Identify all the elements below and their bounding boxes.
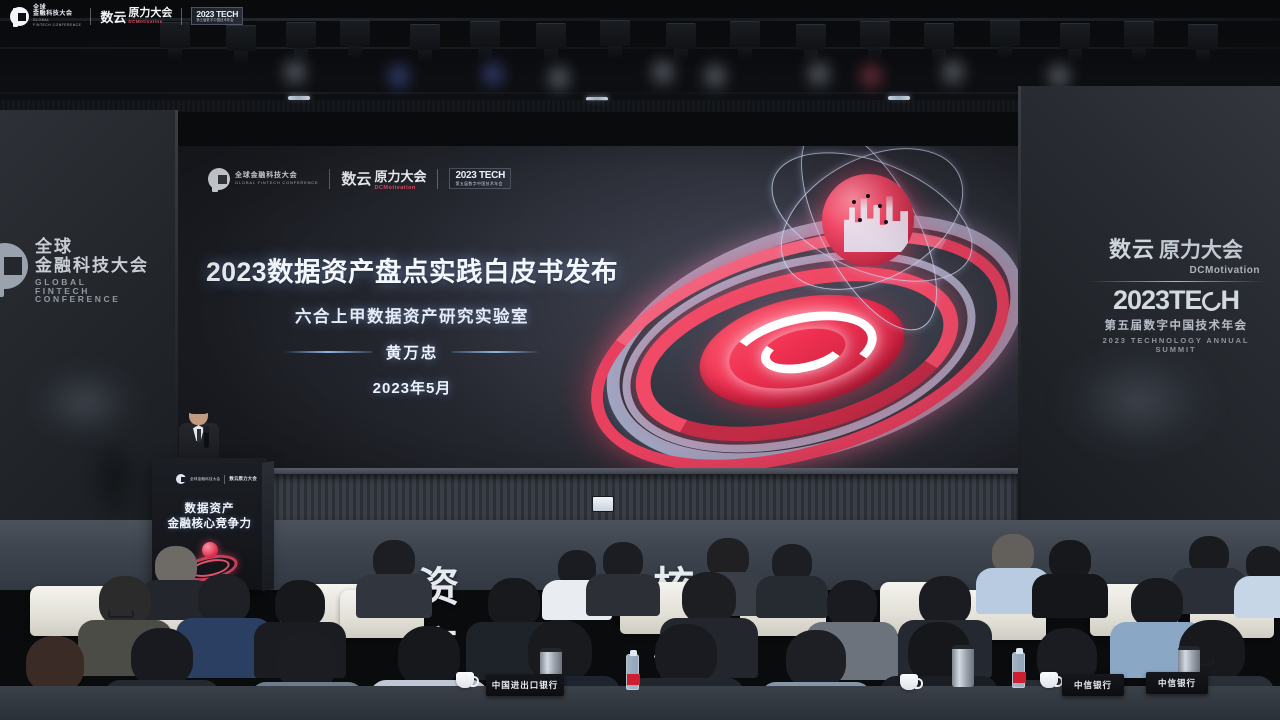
lamp-glow: [806, 54, 832, 94]
stage-light-fixture: [600, 20, 630, 46]
stage-light-fixture: [860, 21, 890, 47]
wall-nebula-graphic: [20, 355, 150, 450]
overlay-dcm-cn: 数云: [100, 7, 126, 26]
wall-right-summit-en: 2023 TECHNOLOGY ANNUAL SUMMIT: [1088, 336, 1264, 354]
audience-person: [1032, 540, 1108, 614]
audience-person: [1234, 546, 1280, 616]
table-nameplate: 中信银行: [1146, 672, 1208, 694]
lamp-glow: [282, 52, 308, 92]
person-head: [198, 574, 250, 624]
nameplate-label: 中国进出口银行: [492, 679, 559, 691]
thermos-flask: [952, 645, 974, 687]
overlay-dcm-cn2: 原力大会: [128, 8, 172, 19]
stage-light-fixture: [990, 20, 1020, 46]
stage-light-fixture: [924, 23, 954, 49]
lamp-glow: [702, 56, 728, 96]
person-head: [26, 636, 84, 692]
audience-person: [586, 542, 660, 614]
stage-light-fixture: [286, 22, 316, 48]
stage-light-fixture: [666, 23, 696, 49]
overlay-logo-dcm: 数云 原力大会 DCMotivation: [100, 7, 172, 26]
screen-vignette: [178, 146, 1018, 474]
teacup: [456, 672, 474, 688]
overlay-dcm-en: DCMotivation: [128, 20, 172, 25]
person-body: [356, 574, 432, 618]
overlay-logo-tech: 2023 TECH 第五届数字中国技术年会: [191, 7, 243, 25]
wall-right-tech-word2: H: [1221, 285, 1240, 315]
person-head: [655, 624, 717, 684]
speaker-wall-shadow: [88, 448, 140, 522]
speaker-tie: [197, 429, 201, 442]
stage-light-fixture: [730, 21, 760, 47]
overlay-divider: [181, 8, 182, 25]
person-head: [131, 628, 193, 686]
speaker-presenter: [178, 403, 220, 465]
wall-nebula-graphic: [1048, 336, 1228, 466]
lamp-glow: [546, 58, 572, 98]
table-nameplate: 中国进出口银行: [486, 674, 564, 696]
wall-brand-global-fintech: 全球 金融科技大会 GLOBAL FINTECH CONFERENCE: [0, 228, 170, 314]
stage-light-fixture: [1188, 24, 1218, 50]
audience-person: [356, 540, 432, 614]
wall-brand-dcmotivation: 数云 原力大会 DCMotivation 2023TEH 第五届数字中国技术年会…: [1088, 232, 1264, 354]
wall-right-dcm-en: DCMotivation: [1088, 265, 1264, 276]
stage-light-fixture: [536, 23, 566, 49]
wall-right-divider: [1088, 281, 1264, 282]
stage-scene: 全球 金融科技大会 GLOBAL FINTECH CONFERENCE 数云 原…: [0, 0, 1280, 720]
person-body: [1032, 574, 1108, 618]
overlay-divider: [90, 8, 91, 25]
person-head: [919, 576, 971, 626]
wall-right-tech-year: 2023: [1113, 285, 1169, 315]
person-head: [827, 580, 877, 628]
fintech-logo-icon: [10, 7, 29, 26]
stage-confidence-monitor: [592, 496, 614, 512]
podium-logo-cn: 全球金融科技大会: [190, 477, 220, 481]
lamp-glow: [650, 52, 676, 92]
wall-right-summit-cn: 第五届数字中国技术年会: [1088, 317, 1264, 333]
microphone-icon: [204, 431, 209, 448]
wall-right-yuanli: 原力大会: [1159, 234, 1243, 264]
teacup: [900, 674, 918, 690]
stage-light-fixture: [1060, 23, 1090, 49]
lamp-glow: [940, 52, 966, 92]
person-head: [398, 626, 460, 686]
person-head: [99, 576, 151, 626]
fintech-logo-icon: [176, 474, 186, 484]
main-led-screen: 全球金融科技大会 GLOBAL FINTECH CONFERENCE 数云 原力…: [178, 146, 1018, 474]
podium-logo-strip: 全球金融科技大会 数云原力大会: [176, 474, 257, 484]
eyeglasses-icon: [694, 606, 720, 614]
lamp-glow: [858, 56, 884, 96]
nameplate-label: 中信银行: [1158, 677, 1196, 689]
stage-light-fixture: [470, 21, 500, 47]
person-head: [786, 630, 846, 688]
overlay-fintech-cn2: 金融科技大会: [33, 11, 81, 18]
person-body: [586, 574, 660, 616]
stage-light-fixture: [1124, 21, 1154, 47]
wall-right-tech-word: TE: [1169, 285, 1202, 315]
wall-left-en2: FINTECH CONFERENCE: [35, 287, 170, 304]
speaker-hair: [187, 401, 210, 414]
broadcast-overlay-logos: 全球 金融科技大会 GLOBAL FINTECH CONFERENCE 数云 原…: [0, 0, 260, 32]
overlay-fintech-en2: FINTECH CONFERENCE: [33, 24, 81, 28]
overlay-tech-line2: 第五届数字中国技术年会: [196, 19, 238, 22]
podium-headline-1: 数据资产: [152, 500, 267, 516]
wall-right-tech-lockup: 2023TEH: [1088, 287, 1264, 314]
stage-light-fixture: [410, 24, 440, 50]
lamp-glow: [480, 54, 506, 94]
stage-light-fixture: [796, 24, 826, 50]
eyeglasses-icon: [108, 610, 134, 618]
wall-right-shuyun: 数云: [1109, 232, 1155, 264]
table-nameplate: 中信银行: [1062, 674, 1124, 696]
wall-left-cn1: 全球: [35, 238, 170, 255]
nameplate-label: 中信银行: [1074, 679, 1112, 691]
lamp-glow: [386, 56, 412, 96]
water-bottle: [1012, 652, 1025, 688]
person-head: [682, 572, 736, 624]
overlay-logo-fintech: 全球 金融科技大会 GLOBAL FINTECH CONFERENCE: [10, 5, 81, 28]
person-body: [1234, 576, 1280, 618]
stage-light-fixture: [340, 20, 370, 46]
podium-logo-cn2: 数云原力大会: [229, 476, 257, 482]
podium-logo-divider: [224, 475, 225, 484]
water-bottle: [626, 654, 639, 690]
wall-left-cn2: 金融科技大会: [35, 257, 170, 274]
teacup: [1040, 672, 1058, 688]
fintech-logo-icon: [0, 243, 28, 299]
person-head: [275, 580, 325, 628]
